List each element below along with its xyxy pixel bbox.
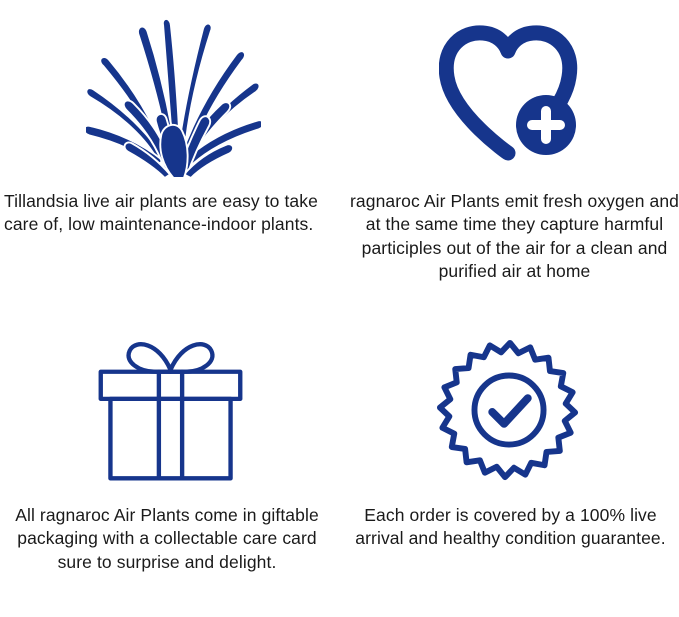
verified-badge-icon (436, 337, 584, 485)
feature-caption-guarantee: Each order is covered by a 100% live arr… (340, 504, 679, 551)
feature-caption-care: Tillandsia live air plants are easy to t… (0, 190, 340, 237)
feature-card-guarantee: Each order is covered by a 100% live arr… (340, 309, 679, 617)
feature-card-care: Tillandsia live air plants are easy to t… (0, 0, 340, 309)
feature-card-gifting: All ragnaroc Air Plants come in giftable… (0, 309, 340, 617)
feature-grid: Tillandsia live air plants are easy to t… (0, 0, 679, 617)
heart-plus-icon-well (340, 0, 679, 190)
gift-box-icon-well (0, 309, 340, 504)
feature-card-oxygen: ragnaroc Air Plants emit fresh oxygen an… (340, 0, 679, 309)
feature-caption-gifting: All ragnaroc Air Plants come in giftable… (0, 504, 340, 574)
feature-caption-oxygen: ragnaroc Air Plants emit fresh oxygen an… (340, 190, 679, 283)
gift-box-icon (83, 333, 258, 488)
verified-badge-icon-well (340, 309, 679, 504)
air-plant-icon (86, 13, 261, 178)
air-plant-icon-well (0, 0, 340, 190)
heart-plus-icon (439, 25, 589, 165)
